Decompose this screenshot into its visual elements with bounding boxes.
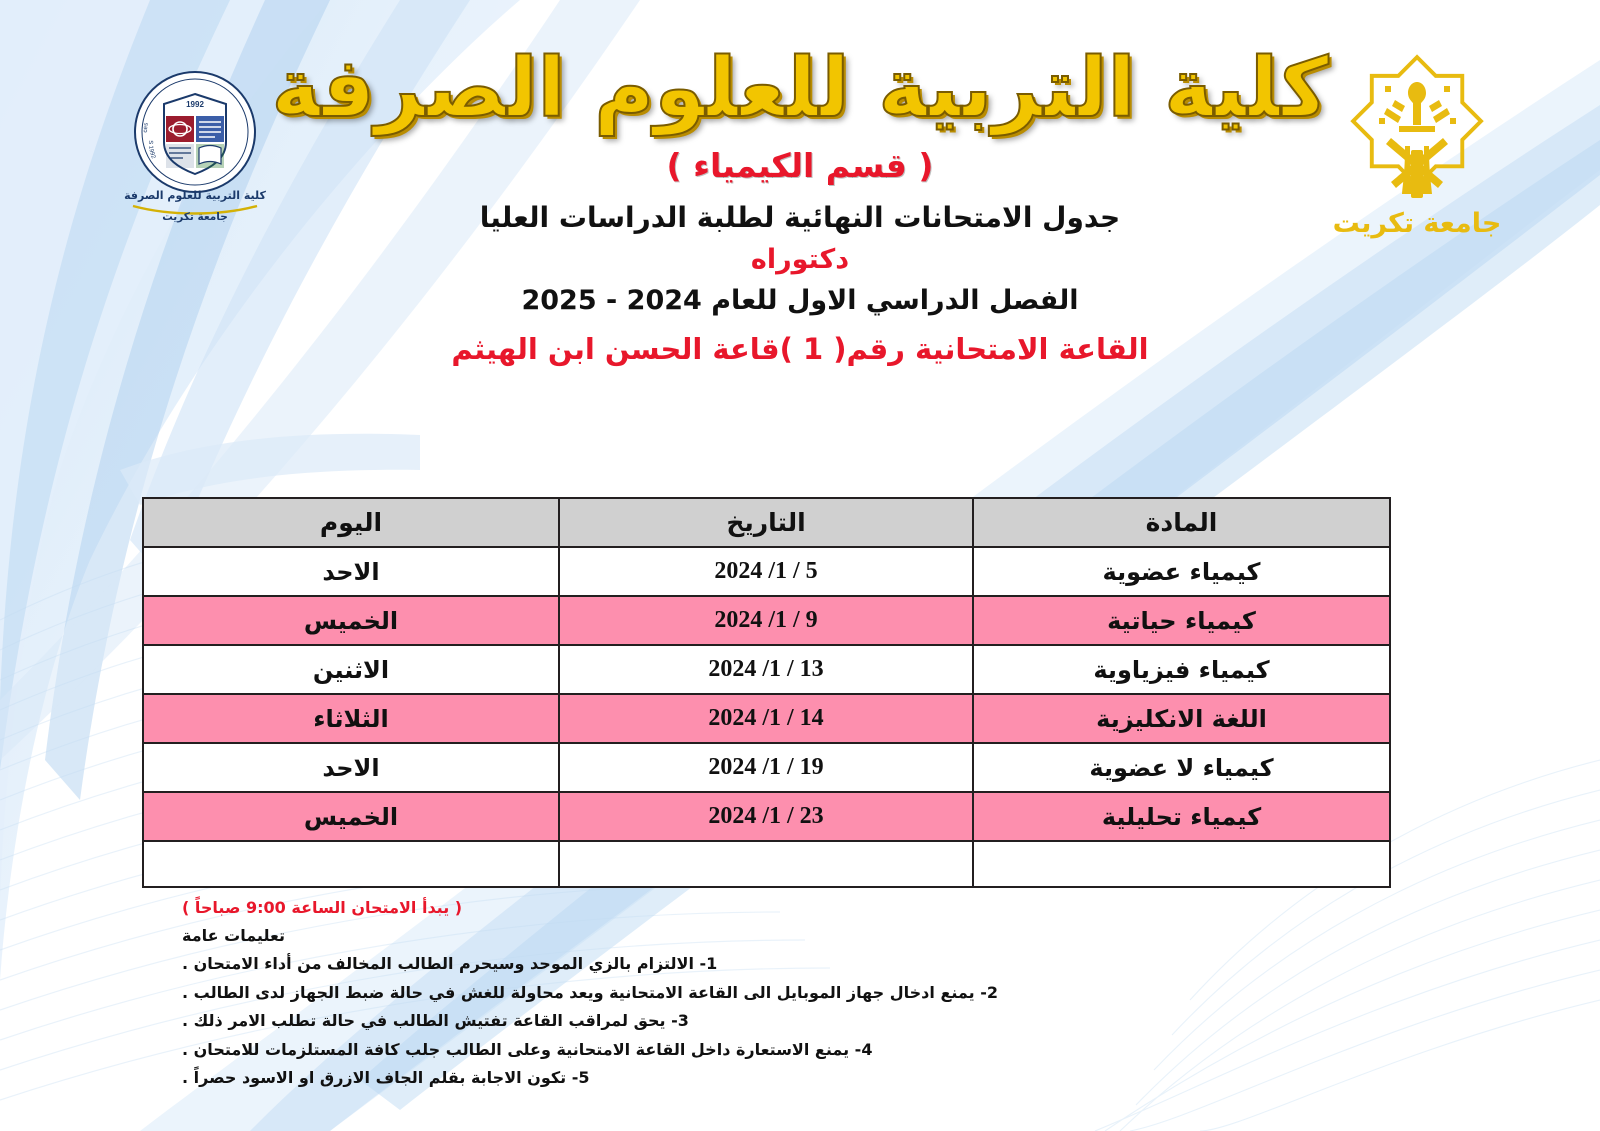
schedule-subtitle: جدول الامتحانات النهائية لطلبة الدراسات … xyxy=(0,201,1600,234)
cell-subject: اللغة الانكليزية xyxy=(973,694,1390,743)
instruction-item: 4- يمنع الاستعارة داخل القاعة الامتحانية… xyxy=(182,1039,1482,1061)
cell-day: الاثنين xyxy=(143,645,559,694)
table-header-row: المادة التاريخ اليوم xyxy=(143,498,1390,547)
degree-label: دكتوراه xyxy=(0,244,1600,275)
college-title: كلية التربية للعلوم الصرفة xyxy=(0,46,1600,132)
academic-year-label: الفصل الدراسي الاول للعام 2024 - 2025 xyxy=(0,285,1600,316)
department-title: ( قسم الكيمياء ) xyxy=(0,146,1600,185)
table-row: كيمياء فيزياوية2024 /1 / 13الاثنين xyxy=(143,645,1390,694)
exam-hall-label: القاعة الامتحانية رقم( 1 )قاعة الحسن ابن… xyxy=(0,332,1600,366)
instruction-item: 1- الالتزام بالزي الموحد وسيحرم الطالب ا… xyxy=(182,953,1482,975)
cell-subject: كيمياء حياتية xyxy=(973,596,1390,645)
table-row: اللغة الانكليزية2024 /1 / 14الثلاثاء xyxy=(143,694,1390,743)
cell-subject: كيمياء فيزياوية xyxy=(973,645,1390,694)
cell-date: 2024 /1 / 19 xyxy=(559,743,973,792)
cell-subject: كيمياء عضوية xyxy=(973,547,1390,596)
table-row: كيمياء لا عضوية2024 /1 / 19الاحد xyxy=(143,743,1390,792)
cell-date: 2024 /1 / 13 xyxy=(559,645,973,694)
header-block: كلية التربية للعلوم الصرفة ( قسم الكيميا… xyxy=(0,46,1600,366)
cell-date: 2024 /1 / 5 xyxy=(559,547,973,596)
table-body: كيمياء عضوية2024 /1 / 5الاحدكيمياء حياتي… xyxy=(143,547,1390,887)
cell-subject: كيمياء تحليلية xyxy=(973,792,1390,841)
cell-date: 2024 /1 / 9 xyxy=(559,596,973,645)
cell-day: الخميس xyxy=(143,792,559,841)
instructions-heading: تعليمات عامة xyxy=(182,926,1482,945)
table-header: المادة التاريخ اليوم xyxy=(143,498,1390,547)
exam-schedule-table: المادة التاريخ اليوم كيمياء عضوية2024 /1… xyxy=(142,497,1391,888)
table-row: كيمياء عضوية2024 /1 / 5الاحد xyxy=(143,547,1390,596)
table-row: كيمياء تحليلية2024 /1 / 23الخميس xyxy=(143,792,1390,841)
cell-day: الثلاثاء xyxy=(143,694,559,743)
exam-start-time-note: ( يبدأ الامتحان الساعة 9:00 صباحاً ) xyxy=(182,898,1482,917)
cell-day: الاحد xyxy=(143,743,559,792)
cell-day: الخميس xyxy=(143,596,559,645)
column-header-day: اليوم xyxy=(143,498,559,547)
instruction-item: 3- يحق لمراقب القاعة تفتيش الطالب في حال… xyxy=(182,1010,1482,1032)
instruction-item: 2- يمنع ادخال جهاز الموبايل الى القاعة ا… xyxy=(182,982,1482,1004)
instructions-list: 1- الالتزام بالزي الموحد وسيحرم الطالب ا… xyxy=(182,953,1482,1089)
document-page: University of Tikrit College of Educatio… xyxy=(0,0,1600,1131)
cell-subject: كيمياء لا عضوية xyxy=(973,743,1390,792)
cell-date: 2024 /1 / 14 xyxy=(559,694,973,743)
table-row: كيمياء حياتية2024 /1 / 9الخميس xyxy=(143,596,1390,645)
footer-block: ( يبدأ الامتحان الساعة 9:00 صباحاً ) تعل… xyxy=(182,898,1482,1096)
column-header-date: التاريخ xyxy=(559,498,973,547)
cell-day xyxy=(143,841,559,887)
schedule-table-wrapper: المادة التاريخ اليوم كيمياء عضوية2024 /1… xyxy=(186,497,1391,888)
table-row xyxy=(143,841,1390,887)
cell-date: 2024 /1 / 23 xyxy=(559,792,973,841)
column-header-subject: المادة xyxy=(973,498,1390,547)
cell-day: الاحد xyxy=(143,547,559,596)
cell-subject xyxy=(973,841,1390,887)
instruction-item: 5- تكون الاجابة بقلم الجاف الازرق او الا… xyxy=(182,1067,1482,1089)
cell-date xyxy=(559,841,973,887)
